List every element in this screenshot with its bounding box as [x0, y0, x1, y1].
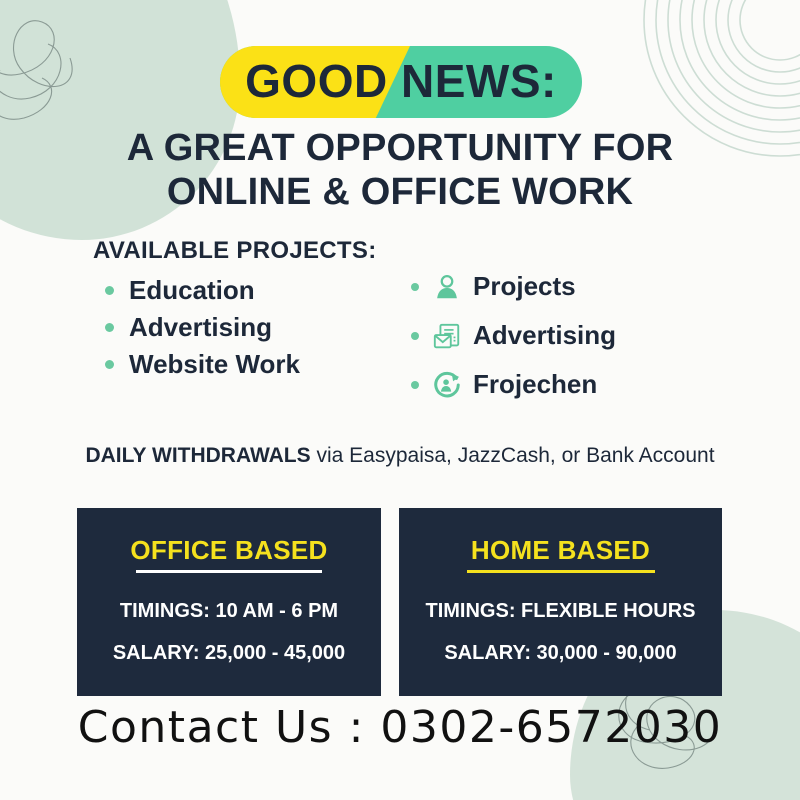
available-projects-heading: AVAILABLE PROJECTS:	[93, 237, 377, 265]
list-item-label: Advertising	[473, 320, 616, 351]
list-item-label: Advertising	[129, 312, 272, 343]
contact-line: Contact Us : 0302-6572030	[0, 702, 800, 753]
bullet-icon	[411, 283, 419, 291]
card-title-underline	[467, 570, 655, 573]
page-title: A GREAT OPPORTUNITY FOR ONLINE & OFFICE …	[0, 126, 800, 215]
projects-left-list: Education Advertising Website Work	[105, 272, 405, 383]
person-icon	[431, 271, 463, 303]
list-item-label: Education	[129, 275, 255, 306]
daily-withdrawals-note: DAILY WITHDRAWALS via Easypaisa, JazzCas…	[0, 444, 800, 468]
list-item-label: Website Work	[129, 349, 300, 380]
card-salary: SALARY: 30,000 - 90,000	[444, 642, 676, 665]
refresh-person-icon	[431, 369, 463, 401]
title-line-2: ONLINE & OFFICE WORK	[0, 170, 800, 214]
bullet-icon	[411, 381, 419, 389]
list-item: Advertising	[105, 309, 405, 345]
card-timings: TIMINGS: FLEXIBLE HOURS	[426, 600, 696, 623]
bullet-icon	[105, 360, 114, 369]
list-item: Projects	[411, 262, 751, 311]
bullet-icon	[105, 286, 114, 295]
document-envelope-icon	[431, 320, 463, 352]
withdrawals-strong-text: DAILY WITHDRAWALS	[85, 444, 310, 467]
list-item-label: Projects	[473, 271, 576, 302]
list-item: Education	[105, 272, 405, 308]
job-card-home-based: HOME BASED TIMINGS: FLEXIBLE HOURS SALAR…	[399, 508, 722, 696]
list-item: Advertising	[411, 311, 751, 360]
list-item: Website Work	[105, 346, 405, 382]
list-item: Frojechen	[411, 360, 751, 409]
badge-label: GOOD NEWS:	[220, 46, 582, 118]
poster-canvas: GOOD NEWS: A GREAT OPPORTUNITY FOR ONLIN…	[0, 0, 800, 800]
bullet-icon	[411, 332, 419, 340]
title-line-1: A GREAT OPPORTUNITY FOR	[0, 126, 800, 170]
bullet-icon	[105, 323, 114, 332]
job-card-office-based: OFFICE BASED TIMINGS: 10 AM - 6 PM SALAR…	[77, 508, 381, 696]
projects-right-list: Projects Advertising	[411, 262, 751, 409]
withdrawals-rest-text: via Easypaisa, JazzCash, or Bank Account	[311, 444, 715, 467]
headline-badge: GOOD NEWS:	[220, 46, 582, 118]
card-title-underline	[136, 570, 322, 573]
card-title: OFFICE BASED	[130, 537, 327, 570]
card-salary: SALARY: 25,000 - 45,000	[113, 642, 345, 665]
list-item-label: Frojechen	[473, 369, 597, 400]
card-title: HOME BASED	[471, 537, 650, 570]
card-timings: TIMINGS: 10 AM - 6 PM	[120, 600, 338, 623]
